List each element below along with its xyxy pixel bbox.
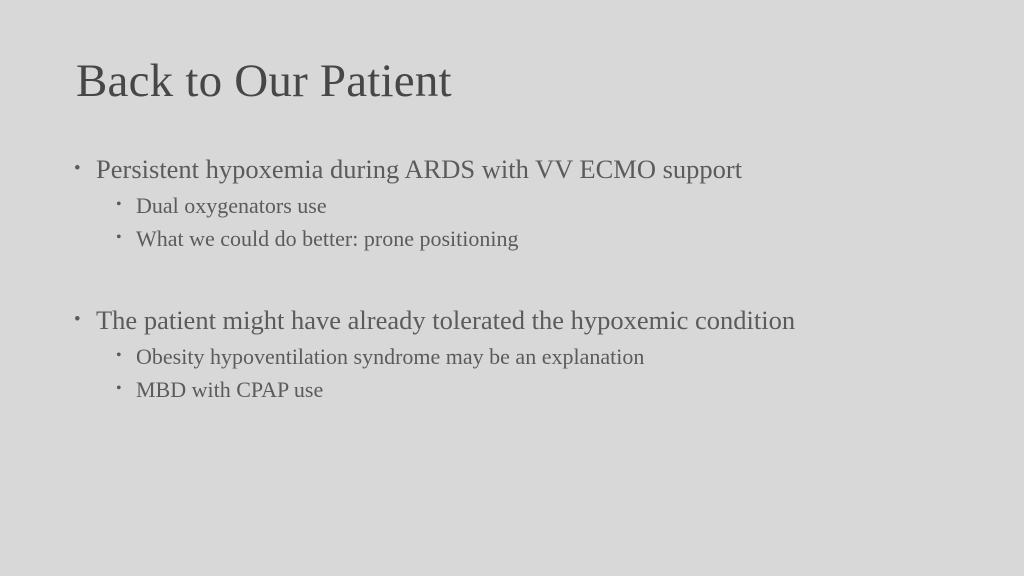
bullet-dot-icon: • (116, 340, 136, 373)
bullet-level2-text: MBD with CPAP use (136, 373, 972, 406)
bullet-level1-item: • Persistent hypoxemia during ARDS with … (72, 152, 972, 187)
bullet-group-spacer (72, 255, 972, 303)
bullet-dot-icon: • (116, 189, 136, 222)
bullet-level1-item: • The patient might have already tolerat… (72, 303, 972, 338)
bullet-level2-text: Obesity hypoventilation syndrome may be … (136, 340, 972, 373)
bullet-level1-text: Persistent hypoxemia during ARDS with VV… (96, 152, 972, 187)
bullet-group-1: • Persistent hypoxemia during ARDS with … (72, 152, 972, 255)
slide-title: Back to Our Patient (76, 54, 452, 108)
bullet-dot-icon: • (116, 373, 136, 406)
bullet-dot-icon: • (74, 152, 96, 186)
bullet-level2-item: • Obesity hypoventilation syndrome may b… (72, 340, 972, 373)
bullet-level2-item: • MBD with CPAP use (72, 373, 972, 406)
bullet-level2-item: • Dual oxygenators use (72, 189, 972, 222)
bullet-dot-icon: • (116, 222, 136, 255)
slide-body: • Persistent hypoxemia during ARDS with … (72, 152, 972, 406)
bullet-level2-item: • What we could do better: prone positio… (72, 222, 972, 255)
bullet-level2-text: What we could do better: prone positioni… (136, 222, 972, 255)
presentation-slide: Back to Our Patient • Persistent hypoxem… (0, 0, 1024, 576)
bullet-dot-icon: • (74, 303, 96, 337)
bullet-level1-text: The patient might have already tolerated… (96, 303, 972, 338)
bullet-level2-text: Dual oxygenators use (136, 189, 972, 222)
bullet-group-2: • The patient might have already tolerat… (72, 303, 972, 406)
